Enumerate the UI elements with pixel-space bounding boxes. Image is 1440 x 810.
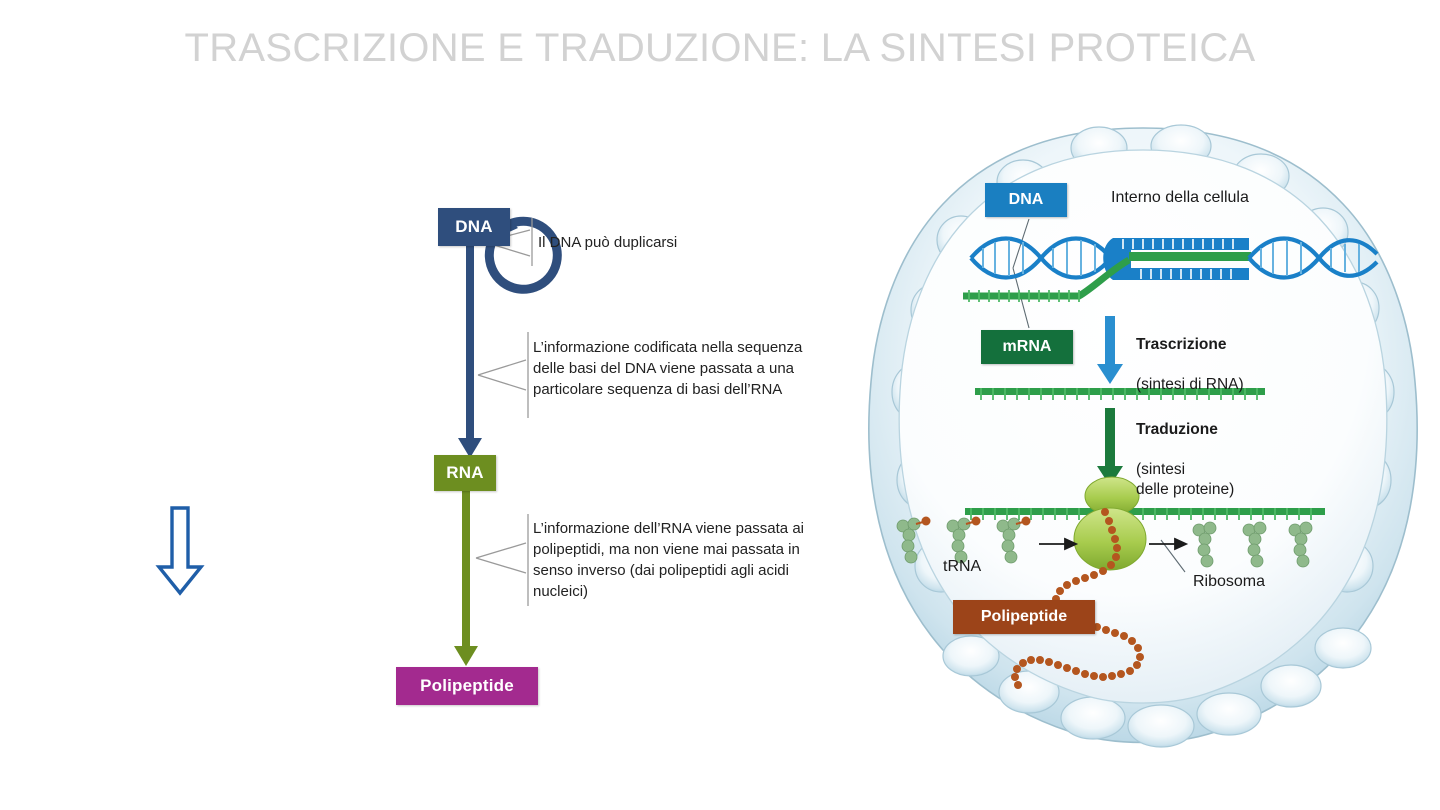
note-dna-duplication: Il DNA può duplicarsi bbox=[538, 232, 768, 253]
note-translation: L’informazione dell’RNA viene passata ai… bbox=[533, 518, 833, 602]
cell-label-mrna[interactable]: mRNA bbox=[981, 330, 1073, 364]
cell-diagram: DNA mRNA Polipeptide Interno della cellu… bbox=[843, 120, 1440, 760]
annotation-trna: tRNA bbox=[943, 557, 981, 577]
arrow-rna-to-polypeptide bbox=[454, 488, 478, 666]
annotation-ribosoma: Ribosoma bbox=[1193, 572, 1265, 592]
slide-canvas: TRASCRIZIONE E TRADUZIONE: LA SINTESI PR… bbox=[0, 0, 1440, 810]
leader-bracket-3 bbox=[476, 514, 528, 606]
page-title: TRASCRIZIONE E TRADUZIONE: LA SINTESI PR… bbox=[0, 26, 1440, 71]
step-traduzione: Traduzione (sintesi delle proteine) bbox=[1136, 400, 1234, 520]
step-traduzione-title: Traduzione bbox=[1136, 420, 1234, 440]
flow-node-rna[interactable]: RNA bbox=[434, 455, 496, 491]
cell-label-dna[interactable]: DNA bbox=[985, 183, 1067, 217]
flow-node-dna[interactable]: DNA bbox=[438, 208, 510, 246]
step-trascrizione-subtitle: (sintesi di RNA) bbox=[1136, 375, 1244, 395]
cell-interior-label: Interno della cellula bbox=[1111, 188, 1249, 208]
note-transcription: L’informazione codificata nella sequenza… bbox=[533, 337, 833, 400]
leader-bracket-2 bbox=[478, 332, 528, 418]
step-traduzione-subtitle: (sintesi delle proteine) bbox=[1136, 460, 1234, 500]
arrow-dna-to-rna bbox=[458, 242, 482, 458]
cell-label-polipeptide[interactable]: Polipeptide bbox=[953, 600, 1095, 634]
step-trascrizione-title: Trascrizione bbox=[1136, 335, 1244, 355]
flow-node-polipeptide[interactable]: Polipeptide bbox=[396, 667, 538, 705]
down-arrow-outline-icon[interactable] bbox=[152, 505, 208, 600]
central-dogma-flowchart: DNA RNA Polipeptide Il DNA può duplicars… bbox=[380, 170, 850, 730]
